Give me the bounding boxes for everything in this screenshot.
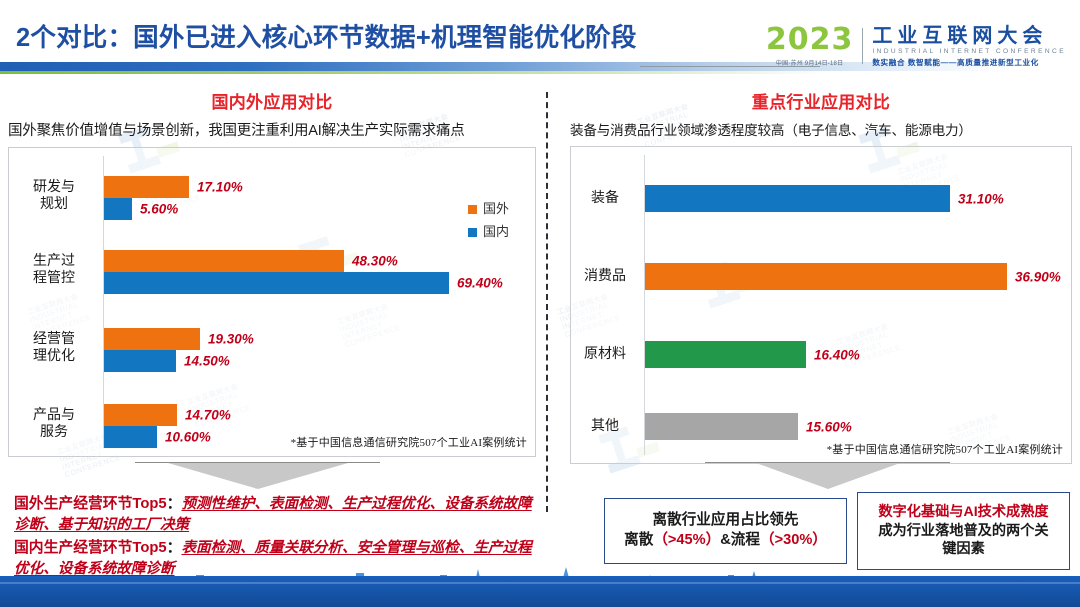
right-chart-footnote: *基于中国信息通信研究院507个工业AI案例统计 [827,441,1063,457]
overseas-top5-line: 国外生产经营环节Top5：预测性维护、表面检测、生产过程优化、设备系统故障诊断、… [14,492,534,534]
overseas-top5-label: 国外生产经营环节Top5 [14,496,167,512]
left-panel-title: 国内外应用对比 [8,88,536,113]
right-chart-bar-consumer: 36.90% [645,263,1007,290]
domestic-top5-label: 国内生产经营环节Top5 [14,540,167,556]
legend-swatch-blue-icon [468,228,477,237]
logo-date: 中国·苏州 9月14日-18日 [766,58,854,67]
header-green-bar [0,71,830,74]
logo-name-cn: 工业互联网大会 [872,26,1066,47]
left-chart-bar-domestic: 5.60% [104,198,132,220]
right-chart-value: 15.60% [806,419,852,434]
key-callout-line1: 数字化基础与AI技术成熟度 [858,503,1069,521]
left-chart-value: 17.10% [197,180,243,195]
right-panel-subtitle: 装备与消费品行业领域渗透程度较高（电子信息、汽车、能源电力） [570,119,1072,139]
discrete-callout-line2: 离散（>45%）&流程（>30%） [605,531,846,551]
discrete-callout-line1: 离散行业应用占比领先 [605,511,846,531]
logo-slogan: 数实融合 数智赋能——高质量推进新型工业化 [872,57,1066,68]
right-chart-category-label: 其他 [574,417,636,434]
logo-name-en: INDUSTRIAL INTERNET CONFERENCE [872,48,1066,55]
legend-label: 国内 [483,221,509,244]
domestic-top5-line: 国内生产经营环节Top5：表面检测、质量关联分析、安全管理与巡检、生产过程优化、… [14,536,534,578]
left-chart-category-label: 研发与 规划 [14,178,94,212]
bottom-left-summary: 国外生产经营环节Top5：预测性维护、表面检测、生产过程优化、设备系统故障诊断、… [14,492,534,580]
left-chart-value: 48.30% [352,254,398,269]
right-chart: 装备 31.10% 消费品 36.90% 原材料 16.40% 其他 15.60… [570,146,1072,464]
water-band [0,576,1080,607]
conference-logo: 2023 中国·苏州 9月14日-18日 工业互联网大会 INDUSTRIAL … [766,26,1066,68]
left-chart-bar-domestic: 69.40% [104,272,449,294]
left-chart-value: 14.50% [184,354,230,369]
left-chart-value: 5.60% [140,202,178,217]
left-chart-bar-overseas: 14.70% [104,404,177,426]
right-arrow-connector [705,462,950,489]
panel-divider [546,92,548,512]
right-chart-value: 36.90% [1015,269,1061,284]
right-chart-category-label: 消费品 [574,267,636,284]
right-chart-bar-other: 15.60% [645,413,798,440]
left-chart-category-label: 经营管 理优化 [14,330,94,364]
page-title: 2个对比：国外已进入核心环节数据+机理智能优化阶段 [16,17,637,54]
left-chart-category-label: 产品与 服务 [14,406,94,440]
left-chart-value: 69.40% [457,276,503,291]
legend-item-overseas: 国外 [468,198,509,221]
process-label: &流程 [720,532,760,548]
left-chart-value: 10.60% [165,430,211,445]
left-chart-category-label: 生产过 程管控 [14,252,94,286]
legend-label: 国外 [483,198,509,221]
left-chart-bar-domestic: 14.50% [104,350,176,372]
discrete-industry-callout: 离散行业应用占比领先 离散（>45%）&流程（>30%） [604,498,847,564]
process-pct: （>30%） [760,532,827,548]
left-chart-bar-domestic: 10.60% [104,426,157,448]
discrete-pct: （>45%） [653,532,720,548]
arrow-triangle-icon [168,463,348,489]
key-callout-line2: 成为行业落地普及的两个关 [858,522,1069,540]
right-chart-bar-equipment: 31.10% [645,185,950,212]
left-chart-bar-overseas: 19.30% [104,328,200,350]
legend-swatch-orange-icon [468,205,477,214]
left-chart: 研发与 规划 17.10% 5.60% 生产过 程管控 48.30% 69.40… [8,147,536,457]
right-chart-value: 16.40% [814,347,860,362]
colon: ： [167,496,182,512]
left-chart-value: 19.30% [208,332,254,347]
legend-item-domestic: 国内 [468,221,509,244]
right-panel: 重点行业应用对比 装备与消费品行业领域渗透程度较高（电子信息、汽车、能源电力） … [570,88,1072,464]
key-callout-line3: 键因素 [858,540,1069,558]
discrete-label: 离散 [624,532,653,548]
left-panel-subtitle: 国外聚焦价值增值与场景创新，我国更注重利用AI解决生产实际需求痛点 [8,119,536,140]
colon: ： [167,540,182,556]
left-panel: 国内外应用对比 国外聚焦价值增值与场景创新，我国更注重利用AI解决生产实际需求痛… [8,88,536,457]
left-chart-footnote: *基于中国信息通信研究院507个工业AI案例统计 [291,434,527,450]
right-chart-value: 31.10% [958,191,1004,206]
left-arrow-connector [135,462,380,489]
right-chart-category-label: 装备 [574,189,636,206]
logo-year: 2023 [766,26,854,55]
left-chart-legend: 国外 国内 [468,198,509,244]
right-chart-category-label: 原材料 [574,345,636,362]
left-chart-value: 14.70% [185,408,231,423]
arrow-triangle-icon [756,463,900,489]
left-chart-bar-overseas: 17.10% [104,176,189,198]
right-panel-title: 重点行业应用对比 [570,88,1072,113]
key-factors-callout: 数字化基础与AI技术成熟度 成为行业落地普及的两个关 键因素 [857,492,1070,570]
left-chart-bar-overseas: 48.30% [104,250,344,272]
right-chart-bar-materials: 16.40% [645,341,806,368]
